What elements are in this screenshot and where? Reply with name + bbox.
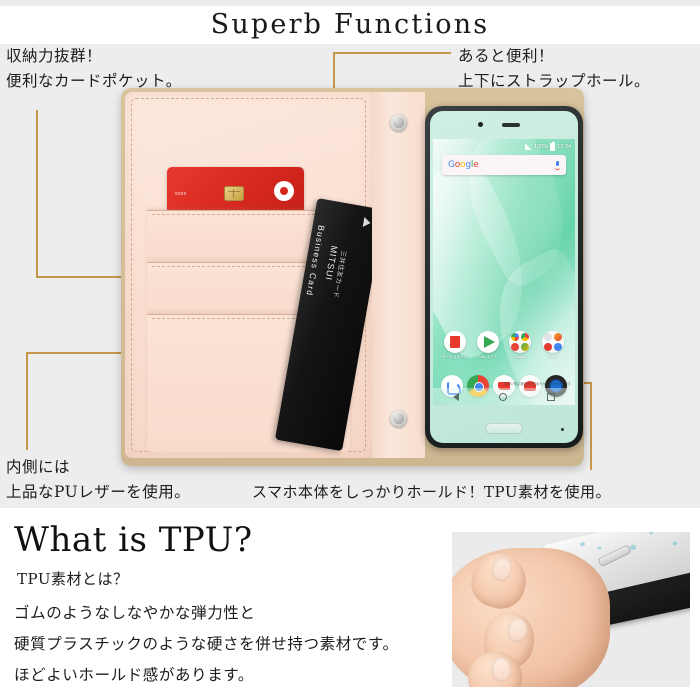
app-item[interactable]: サービス＆サポート: [442, 331, 468, 360]
battery-icon: [550, 143, 555, 151]
photo-hand: [452, 548, 610, 687]
photo-fleck: [597, 546, 602, 550]
app-label: Play ストア: [475, 355, 501, 360]
tpu-body-line-2: 硬質プラスチックのような硬さを併せ持つ素材です。: [14, 629, 399, 660]
front-camera-icon: [478, 122, 483, 127]
earpiece-speaker-icon: [502, 123, 520, 127]
tpu-explainer-panel: What is TPU? TPU素材とは？ ゴムのようなしなやかな弾力性と 硬質…: [0, 508, 700, 700]
folder-dot: [544, 333, 552, 341]
google-letter-g: G: [448, 160, 455, 170]
strap-hole-top-icon: [390, 114, 407, 131]
google-logo: Google: [448, 160, 479, 170]
photo-fingernail: [491, 657, 513, 682]
connector-leather-vertical: [26, 352, 28, 450]
tpu-body-text: ゴムのようなしなやかな弾力性と 硬質プラスチックのような硬さを併せ持つ素材です。…: [14, 598, 399, 691]
infographic-page: Superb Functions 収納力抜群！ 便利なカードポケット。 あると便…: [0, 0, 700, 700]
folder-dot: [544, 343, 552, 351]
folder-dot: [554, 343, 562, 351]
google-folder-icon[interactable]: [509, 331, 531, 353]
app-item[interactable]: Play ストア: [475, 331, 501, 360]
google-letter-e: e: [473, 160, 478, 170]
business-card-triangle-icon: [363, 217, 372, 228]
folder-dot: [511, 333, 519, 341]
folder-dot: [554, 333, 562, 341]
app-label: サービス＆サポート: [442, 355, 468, 360]
app-row: サービス＆サポート Play ストア: [439, 331, 569, 360]
folder-dot: [521, 333, 529, 341]
clock: 12:34: [557, 144, 571, 150]
battery-percent: 100%: [534, 144, 548, 150]
app-label: Google: [507, 355, 533, 359]
tpu-body-line-3: ほどよいホールド感があります。: [14, 660, 399, 691]
phone-screen: 100% 12:34 Google サービス＆サポート: [433, 139, 575, 405]
status-bar: 100% 12:34: [525, 142, 571, 151]
photo-fingernail: [506, 617, 529, 644]
tpu-flex-photo: [452, 532, 690, 687]
photo-fleck: [672, 541, 678, 546]
signal-icon: [525, 144, 532, 150]
tpu-heading: What is TPU?: [14, 520, 253, 560]
folder-dot: [521, 343, 529, 351]
card-red-number: 0000: [175, 191, 187, 196]
wallet-case-product: 0000 0000 Business Card MITSUI 三井住友カード: [125, 92, 580, 462]
news-app-icon[interactable]: [444, 331, 466, 353]
recents-icon[interactable]: [547, 393, 555, 401]
callout-card-pocket-line1: 収納力抜群！: [6, 44, 182, 69]
callout-pu-leather-line2: 上品なPUレザーを使用。: [6, 480, 190, 505]
connector-tpu-vertical: [590, 382, 592, 470]
callout-card-pocket: 収納力抜群！ 便利なカードポケット。: [6, 44, 182, 94]
photo-fingernail: [489, 555, 515, 584]
microphone-icon[interactable]: [555, 161, 560, 170]
app-item[interactable]: Google: [507, 331, 533, 360]
tpu-subheading: TPU素材とは？: [17, 568, 128, 589]
phone-front-face: 100% 12:34 Google サービス＆サポート: [430, 111, 578, 443]
case-spine: [372, 92, 425, 458]
folder-dot: [511, 343, 519, 351]
app-item[interactable]: ツール: [540, 331, 566, 360]
callout-strap-hole: あると便利！ 上下にストラップホール。: [458, 44, 650, 94]
screen-ticker-text: 利用の際は通信料が別途かかる場合があります: [504, 381, 571, 386]
back-icon[interactable]: [453, 393, 459, 401]
google-search-bar[interactable]: Google: [442, 155, 566, 175]
tpu-body-line-1: ゴムのようなしなやかな弾力性と: [14, 598, 399, 629]
photo-fleck: [580, 542, 586, 547]
home-icon[interactable]: [499, 393, 507, 401]
play-store-icon[interactable]: [477, 331, 499, 353]
app-label: ツール: [540, 355, 566, 360]
home-button[interactable]: [485, 423, 523, 434]
photo-power-button: [597, 544, 632, 567]
callout-tpu-hold: スマホ本体をしっかりホールド！TPU素材を使用。: [252, 480, 611, 505]
phone-top-bezel: [430, 111, 578, 139]
tools-folder-icon[interactable]: [542, 331, 564, 353]
bottom-sensor-icon: [561, 428, 564, 431]
connector-strap-horizontal: [333, 52, 451, 54]
callout-strap-hole-line1: あると便利！: [458, 44, 650, 69]
card-logo-icon: [274, 181, 294, 201]
smartphone: 100% 12:34 Google サービス＆サポート: [425, 106, 583, 448]
card-chip-icon: [224, 186, 244, 201]
connector-pocket-vertical: [36, 110, 38, 278]
android-nav-bar: [433, 388, 575, 405]
strap-hole-bottom-icon: [390, 410, 407, 427]
photo-fleck: [649, 532, 654, 535]
page-title: Superb Functions: [0, 6, 700, 44]
